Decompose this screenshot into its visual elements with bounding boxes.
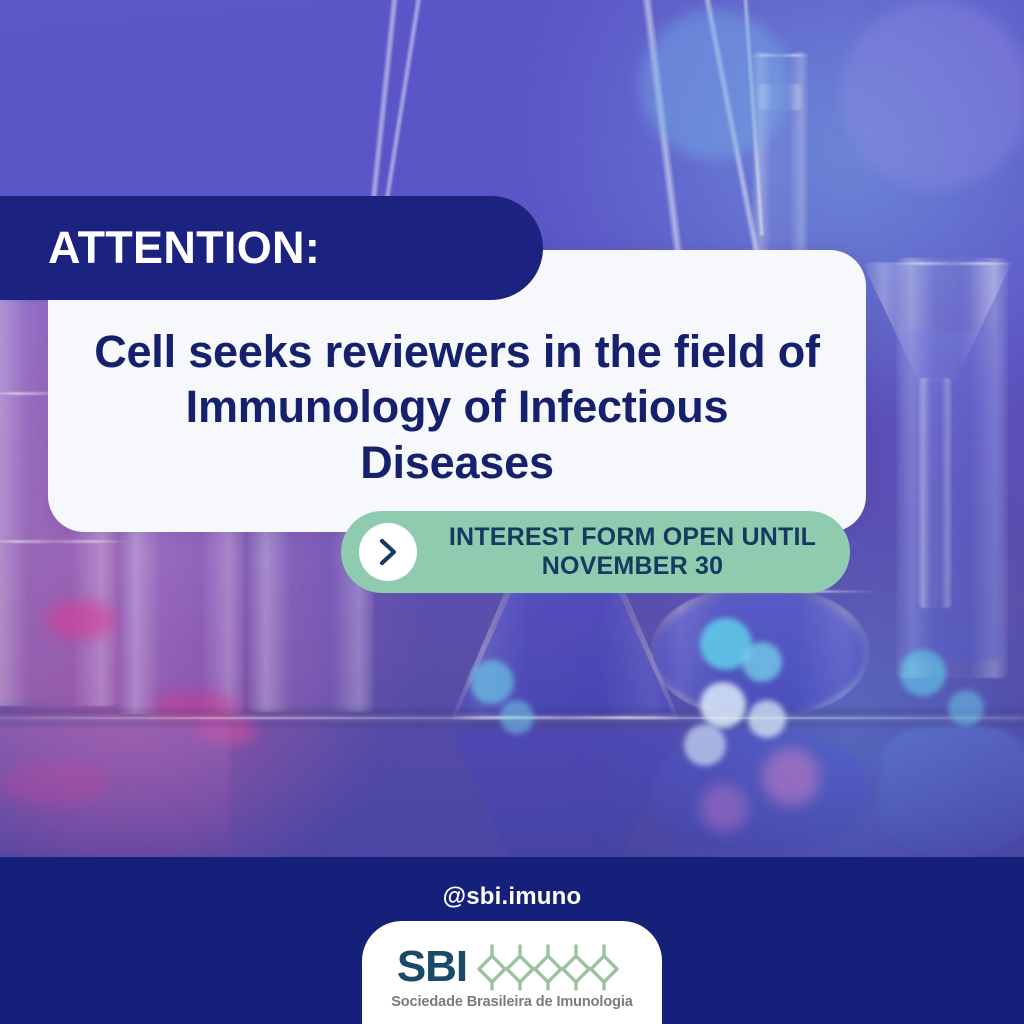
reflection-left bbox=[0, 722, 230, 854]
bokeh-pink-1 bbox=[762, 748, 820, 806]
bokeh-blue-topright bbox=[640, 10, 790, 160]
bokeh-pink-2 bbox=[700, 784, 748, 832]
cta-pill-interest-form[interactable]: INTEREST FORM OPEN UNTIL NOVEMBER 30 bbox=[341, 511, 850, 593]
cta-label-line2: NOVEMBER 30 bbox=[542, 552, 723, 580]
sbi-logo: SBI bbox=[362, 943, 662, 1010]
attention-banner: ATTENTION: bbox=[0, 196, 543, 300]
antibody-diamond-chain-icon bbox=[475, 943, 627, 991]
magenta-accent-1 bbox=[46, 600, 116, 640]
bokeh-cyan-6 bbox=[948, 690, 984, 726]
logo-card: SBI bbox=[362, 921, 662, 1024]
reflection-round-flask bbox=[650, 730, 870, 854]
bokeh-cyan-2 bbox=[742, 642, 782, 682]
footer-bar: @sbi.imuno SBI bbox=[0, 857, 1024, 1024]
bokeh-cyan-5 bbox=[900, 650, 946, 696]
logo-tagline: Sociedade Brasileira de Imunologia bbox=[391, 994, 633, 1010]
headline-title: Cell seeks reviewers in the field of Imm… bbox=[48, 324, 866, 490]
social-handle[interactable]: @sbi.imuno bbox=[0, 883, 1024, 911]
bokeh-purple-topright bbox=[840, 0, 1024, 190]
bokeh-cyan-3 bbox=[470, 660, 514, 704]
bokeh-white-2 bbox=[748, 700, 786, 738]
attention-label: ATTENTION: bbox=[0, 222, 320, 274]
bokeh-white-1 bbox=[700, 682, 746, 728]
chevron-right-icon[interactable] bbox=[359, 523, 417, 581]
logo-row: SBI bbox=[397, 943, 627, 991]
bokeh-cyan-4 bbox=[500, 700, 534, 734]
cta-label-line1: INTEREST FORM OPEN UNTIL bbox=[449, 523, 816, 551]
funnel-stem-right bbox=[918, 378, 952, 608]
bokeh-white-3 bbox=[684, 724, 726, 766]
cta-label: INTEREST FORM OPEN UNTIL NOVEMBER 30 bbox=[429, 523, 836, 582]
reflection-right bbox=[880, 724, 1024, 854]
logo-wordmark: SBI bbox=[397, 946, 467, 988]
poster-canvas: ATTENTION: Cell seeks reviewers in the f… bbox=[0, 0, 1024, 1024]
